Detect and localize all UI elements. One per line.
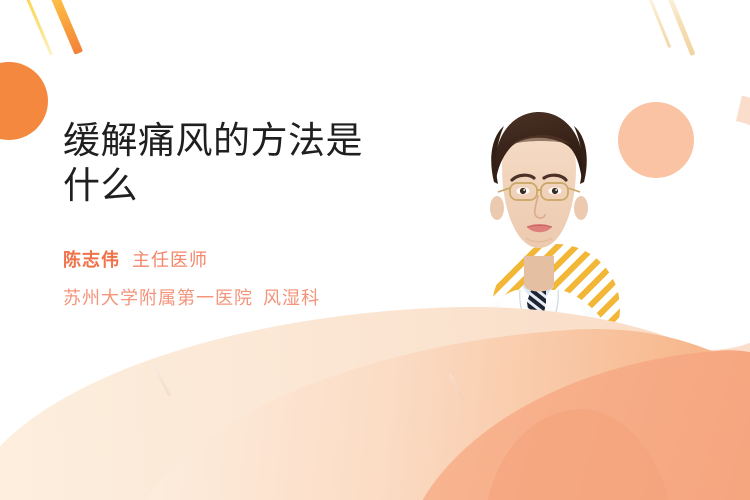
doctor-portrait-image [434,96,644,396]
doctor-name-row: 陈志伟主任医师 [63,246,423,272]
cream-diagonal-line-icon-4 [448,373,464,401]
doctor-byline: 陈志伟主任医师 苏州大学附属第一医院风湿科 [63,246,423,310]
doctor-article-cover-card: 缓解痛风的方法是 什么 陈志伟主任医师 苏州大学附属第一医院风湿科 [0,0,750,500]
article-title: 缓解痛风的方法是 什么 [63,118,423,208]
deep-salmon-wave [385,341,750,500]
yellow-diagonal-line-icon [22,0,53,56]
salmon-wave-lobe [471,400,676,500]
salmon-ball-decoration [618,102,694,178]
cream-diagonal-line-icon-2 [662,0,696,56]
cover-text-block: 缓解痛风的方法是 什么 陈志伟主任医师 苏州大学附属第一医院风湿科 [63,118,423,310]
orange-diagonal-line-icon [46,0,83,55]
peach-ring-arc-decoration [514,38,750,429]
cream-diagonal-line-icon-3 [152,363,171,396]
department-name: 风湿科 [263,288,320,308]
doctor-rank: 主任医师 [132,250,208,270]
hospital-name: 苏州大学附属第一医院 [63,288,253,308]
doctor-affiliation-row: 苏州大学附属第一医院风湿科 [63,284,423,310]
pale-peach-wave [0,294,750,500]
doctor-name: 陈志伟 [63,250,120,270]
orange-circle-decoration [0,62,48,140]
mid-peach-wave [114,315,750,500]
yellow-striped-circle-decoration [492,244,620,372]
cream-diagonal-line-icon-1 [644,0,672,48]
